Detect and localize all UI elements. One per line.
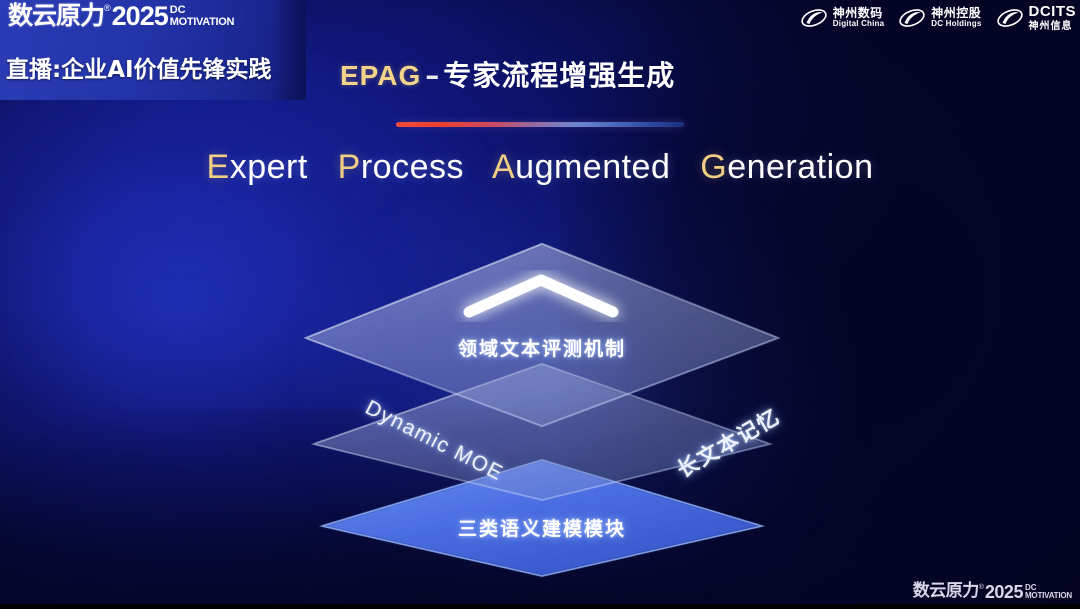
live-session-title: 直播:企业AI价值先锋实践: [6, 50, 272, 84]
watermark-cn: 数云原力: [913, 583, 979, 600]
brand-logo-dc-line1: DC: [170, 5, 234, 17]
slide-title: EPAG–专家流程增强生成: [340, 54, 675, 94]
title-divider: [396, 122, 684, 127]
english-word-rest: xpert: [230, 148, 308, 186]
partner-logo-text: 神州控股 DC Holdings: [931, 7, 981, 29]
english-expansion-title: Expert Process Augmented Generation: [0, 148, 1080, 187]
english-word-rest: eneration: [727, 148, 873, 186]
brand-logo-dc-line2: MOTIVATION: [170, 17, 234, 29]
watermark-dc: DC MOTIVATION: [1025, 584, 1072, 601]
partner-name-en: DCITS: [1029, 4, 1077, 21]
partner-name-en: Digital China: [833, 20, 885, 29]
partner-logo-group: 神州数码 Digital China 神州控股 DC Holdings: [800, 4, 1076, 32]
partner-logo-dcits: DCITS 神州信息: [996, 4, 1077, 32]
partner-logo-text: 神州数码 Digital China: [833, 7, 885, 29]
partner-name-cn: 神州控股: [931, 7, 981, 20]
partner-logo-dc-holdings: 神州控股 DC Holdings: [898, 5, 981, 31]
english-word-rest: ugmented: [515, 148, 670, 186]
brand-logo-dc: DC MOTIVATION: [170, 5, 234, 28]
layered-architecture-diagram: 领域文本评测机制 Dynamic MOE 长文本记忆 三类语义建模模块: [296, 228, 788, 578]
english-word-rest: rocess: [361, 148, 464, 186]
english-word-generation: Generation: [700, 148, 873, 186]
slide-title-chinese: 专家流程增强生成: [443, 59, 675, 92]
bottom-letterbox-bar: [0, 604, 1080, 609]
english-word-expert: Expert: [207, 148, 308, 186]
english-word-process: Process: [338, 148, 464, 186]
english-word-initial: P: [338, 148, 361, 186]
partner-name-en: DC Holdings: [931, 20, 981, 29]
word-space: [474, 148, 484, 186]
swoosh-logo-icon: [898, 5, 926, 31]
partner-logo-text: DCITS 神州信息: [1029, 4, 1077, 32]
corner-watermark: 数云原力 ® 2025 DC MOTIVATION: [913, 583, 1072, 601]
partner-name-cn: 神州信息: [1029, 21, 1077, 32]
partner-logo-digital-china: 神州数码 Digital China: [800, 5, 885, 31]
word-space: [680, 148, 690, 186]
brand-logo: 数云原力 ® 2025 DC MOTIVATION: [8, 3, 234, 30]
english-word-initial: A: [492, 148, 515, 186]
word-space: [318, 148, 328, 186]
layer-plates-svg: [296, 228, 788, 578]
swoosh-logo-icon: [800, 5, 828, 31]
slide-canvas: 数云原力 ® 2025 DC MOTIVATION 直播:企业AI价值先锋实践 …: [0, 0, 1080, 609]
brand-logo-year: 2025: [112, 3, 168, 30]
swoosh-logo-icon: [996, 5, 1024, 31]
watermark-dc-line2: MOTIVATION: [1025, 592, 1072, 600]
partner-name-cn: 神州数码: [833, 7, 885, 20]
english-word-initial: G: [700, 148, 727, 186]
slide-title-dash: –: [425, 59, 439, 92]
slide-title-abbreviation: EPAG: [340, 60, 421, 91]
watermark-registered: ®: [979, 584, 984, 591]
brand-logo-registered: ®: [104, 4, 111, 13]
watermark-year: 2025: [985, 583, 1023, 601]
layer-plate-top: [306, 244, 778, 426]
brand-logo-cn: 数云原力: [8, 3, 104, 28]
english-word-initial: E: [207, 148, 230, 186]
english-word-augmented: Augmented: [492, 148, 670, 186]
